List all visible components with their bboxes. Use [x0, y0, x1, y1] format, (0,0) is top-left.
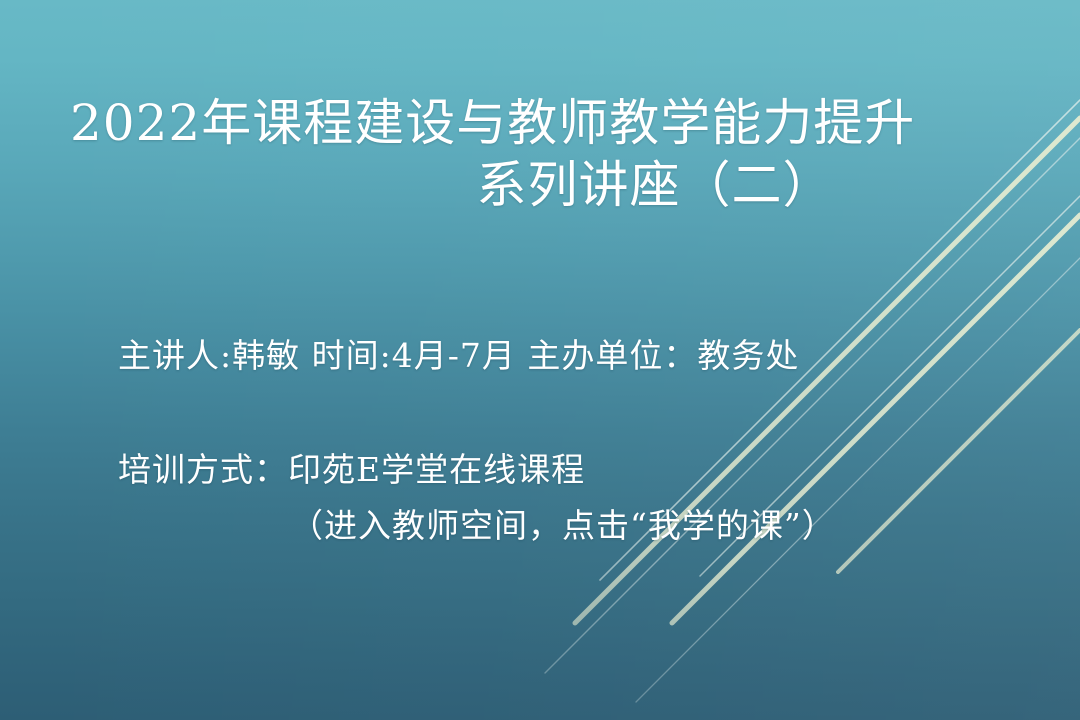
training-mode-line: 培训方式：印苑E学堂在线课程 — [0, 444, 1080, 496]
slide-title: 2022年课程建设与教师教学能力提升 系列讲座（二） — [70, 92, 1020, 216]
presentation-slide: 2022年课程建设与教师教学能力提升 系列讲座（二） 主讲人:韩敏 时间:4月-… — [0, 0, 1080, 720]
training-instruction-line: （进入教师空间，点击“我学的课”） — [0, 500, 1080, 552]
slide-title-line-1: 2022年课程建设与教师教学能力提升 — [70, 92, 1020, 154]
slide-body: 主讲人:韩敏 时间:4月-7月 主办单位：教务处 培训方式：印苑E学堂在线课程 … — [0, 330, 1080, 552]
speaker-time-organizer-line: 主讲人:韩敏 时间:4月-7月 主办单位：教务处 — [0, 330, 1080, 382]
slide-text-layer: 2022年课程建设与教师教学能力提升 系列讲座（二） 主讲人:韩敏 时间:4月-… — [0, 0, 1080, 720]
slide-title-line-2: 系列讲座（二） — [70, 154, 1020, 216]
